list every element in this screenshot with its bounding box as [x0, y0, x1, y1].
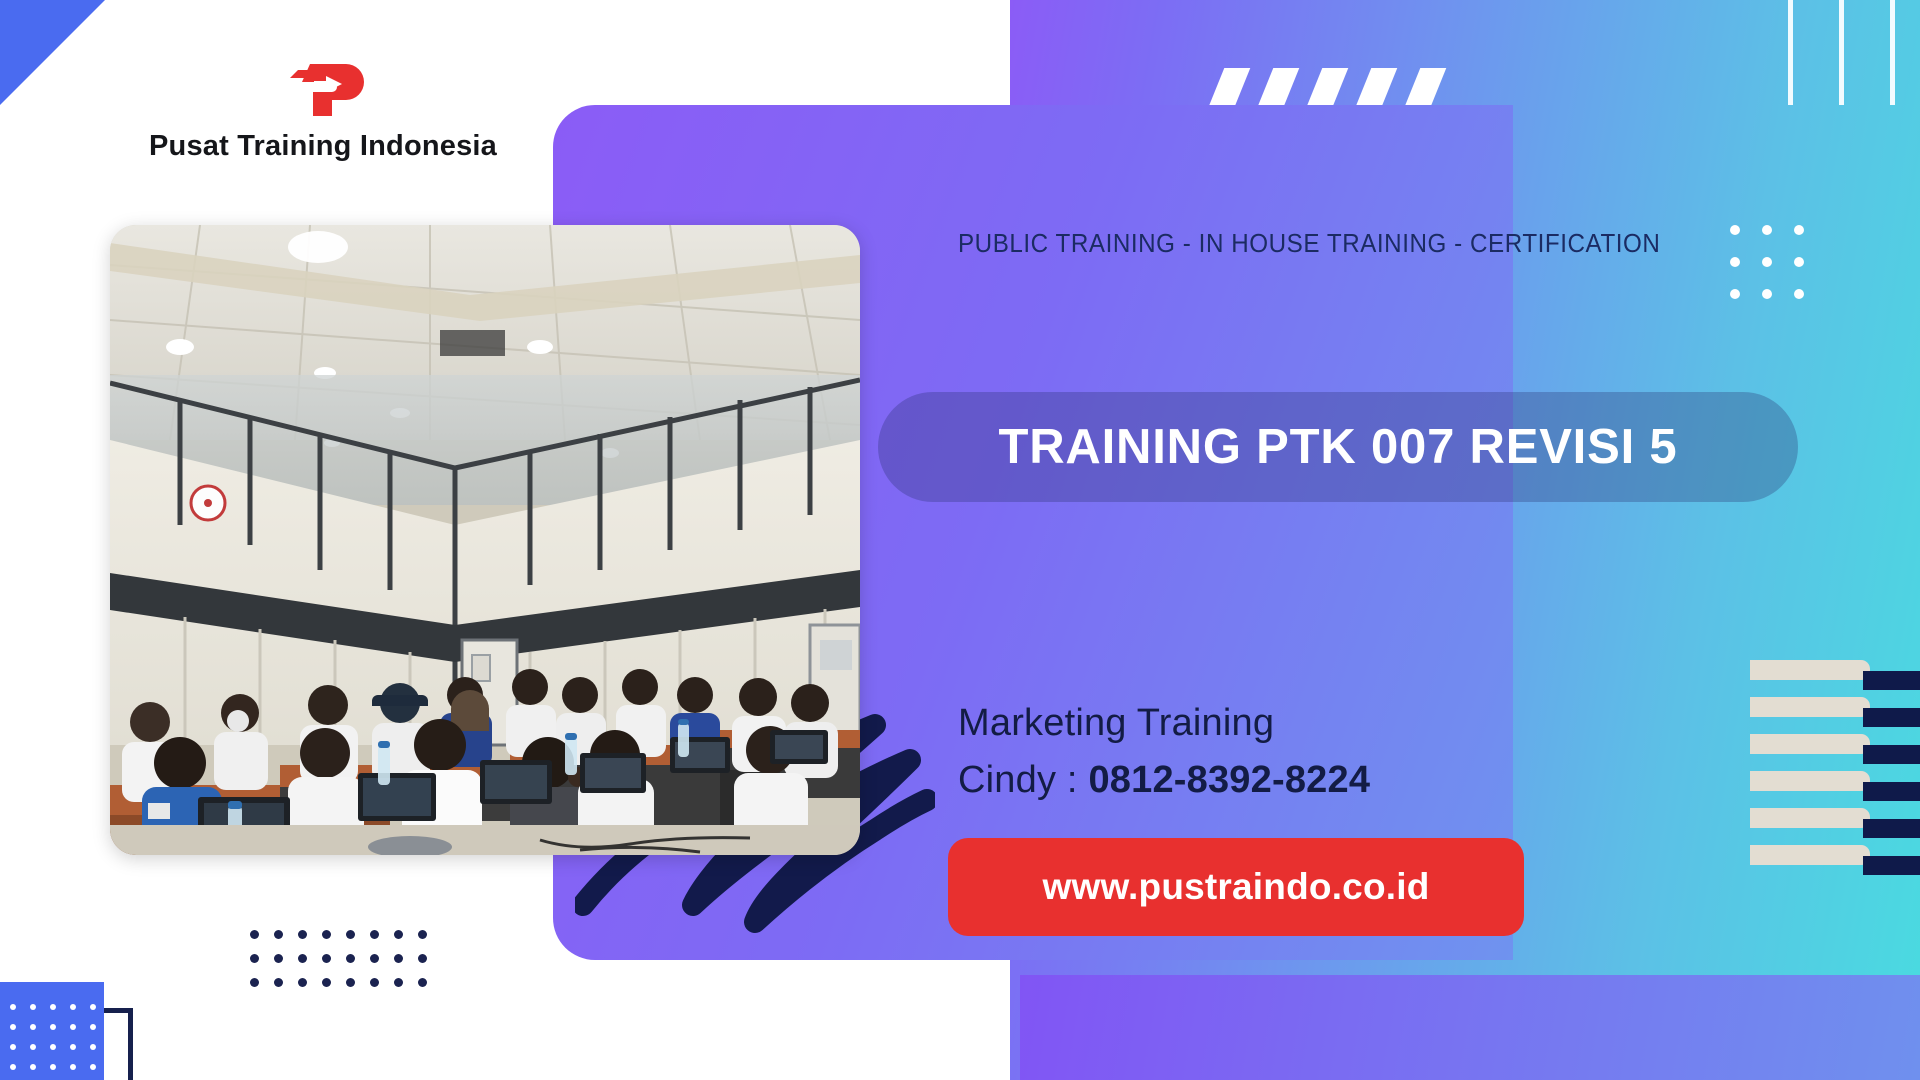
bar-navy-decor [1863, 856, 1920, 875]
dot-grid-decor-white [1730, 225, 1804, 299]
dot-decor [90, 1004, 96, 1010]
dot-decor [298, 978, 307, 987]
title-banner: TRAINING PTK 007 REVISI 5 [878, 392, 1798, 502]
dot-decor [1762, 257, 1772, 267]
contact-block: Marketing Training Cindy : 0812-8392-822… [958, 702, 1658, 802]
dot-decor [250, 978, 259, 987]
contact-person-label: Cindy : [958, 759, 1088, 801]
bar-navy-decor [1863, 819, 1920, 838]
bar-cream-decor [1750, 845, 1870, 865]
tagline: PUBLIC TRAINING - IN HOUSE TRAINING - CE… [958, 228, 1683, 259]
dot-decor [70, 1064, 76, 1070]
dot-decor [322, 930, 331, 939]
vertical-line-decor [1788, 0, 1793, 105]
dot-decor [50, 1044, 56, 1050]
red-p-arrow-logo-icon [280, 62, 366, 118]
dot-decor [418, 930, 427, 939]
dot-decor [50, 1064, 56, 1070]
dot-decor [90, 1024, 96, 1030]
bar-cream-decor [1750, 734, 1870, 754]
dot-decor [394, 930, 403, 939]
brand-name: Pusat Training Indonesia [128, 130, 518, 163]
dot-decor [274, 930, 283, 939]
bottom-band-decor [1020, 975, 1920, 1080]
blue-square-decor [0, 982, 104, 1080]
promotional-banner: Pusat Training Indonesia PUBLIC TRAINING… [0, 0, 1920, 1080]
contact-phone-number: 0812-8392-8224 [1088, 759, 1370, 801]
dot-decor [50, 1024, 56, 1030]
bar-row-decor [1750, 771, 1920, 793]
dot-decor [1794, 289, 1804, 299]
dot-decor [30, 1064, 36, 1070]
dot-decor [70, 1004, 76, 1010]
page-title: TRAINING PTK 007 REVISI 5 [999, 419, 1678, 475]
dot-decor [70, 1024, 76, 1030]
bar-cream-decor [1750, 771, 1870, 791]
bar-row-decor [1750, 845, 1920, 867]
dot-decor [370, 978, 379, 987]
bar-navy-decor [1863, 671, 1920, 690]
brand-logo-block: Pusat Training Indonesia [128, 62, 518, 163]
dot-decor [322, 954, 331, 963]
dot-decor [322, 978, 331, 987]
dot-decor [10, 1044, 16, 1050]
dot-decor [346, 930, 355, 939]
bar-cream-decor [1750, 808, 1870, 828]
vertical-line-decor [1890, 0, 1895, 105]
bar-row-decor [1750, 808, 1920, 830]
bar-navy-decor [1863, 782, 1920, 801]
bar-navy-decor [1863, 708, 1920, 727]
dot-decor [90, 1044, 96, 1050]
bar-row-decor [1750, 734, 1920, 756]
bar-navy-decor [1863, 745, 1920, 764]
dot-decor [370, 954, 379, 963]
dot-decor [1730, 289, 1740, 299]
website-button[interactable]: www.pustraindo.co.id [948, 838, 1524, 936]
contact-phone-line: Cindy : 0812-8392-8224 [958, 759, 1658, 802]
dot-grid-decor-navy [250, 930, 430, 992]
bar-lines-decor [1750, 660, 1920, 880]
bar-row-decor [1750, 660, 1920, 682]
dot-decor [10, 1024, 16, 1030]
dot-decor [274, 978, 283, 987]
dot-decor [1762, 289, 1772, 299]
corner-triangle-decor [0, 0, 105, 105]
dot-decor [30, 1004, 36, 1010]
dot-decor [346, 978, 355, 987]
dot-decor [418, 954, 427, 963]
dot-decor [370, 930, 379, 939]
dot-decor [1794, 225, 1804, 235]
website-button-label: www.pustraindo.co.id [1042, 866, 1429, 908]
dot-decor [298, 954, 307, 963]
bar-cream-decor [1750, 660, 1870, 680]
dot-decor [90, 1064, 96, 1070]
vertical-line-decor [1839, 0, 1844, 105]
dot-decor [1730, 257, 1740, 267]
training-photo [110, 225, 860, 855]
dot-decor [30, 1044, 36, 1050]
bar-cream-decor [1750, 697, 1870, 717]
dot-decor [394, 954, 403, 963]
dot-decor [250, 954, 259, 963]
dot-decor [346, 954, 355, 963]
dot-decor [10, 1004, 16, 1010]
dot-decor [10, 1064, 16, 1070]
dot-decor [274, 954, 283, 963]
bar-row-decor [1750, 697, 1920, 719]
dot-decor [1762, 225, 1772, 235]
dot-decor [1730, 225, 1740, 235]
dot-decor [70, 1044, 76, 1050]
dot-decor [1794, 257, 1804, 267]
dot-decor [50, 1004, 56, 1010]
dot-decor [250, 930, 259, 939]
dot-decor [394, 978, 403, 987]
dot-decor [418, 978, 427, 987]
dot-decor [298, 930, 307, 939]
dot-decor [30, 1024, 36, 1030]
contact-role: Marketing Training [958, 702, 1658, 745]
